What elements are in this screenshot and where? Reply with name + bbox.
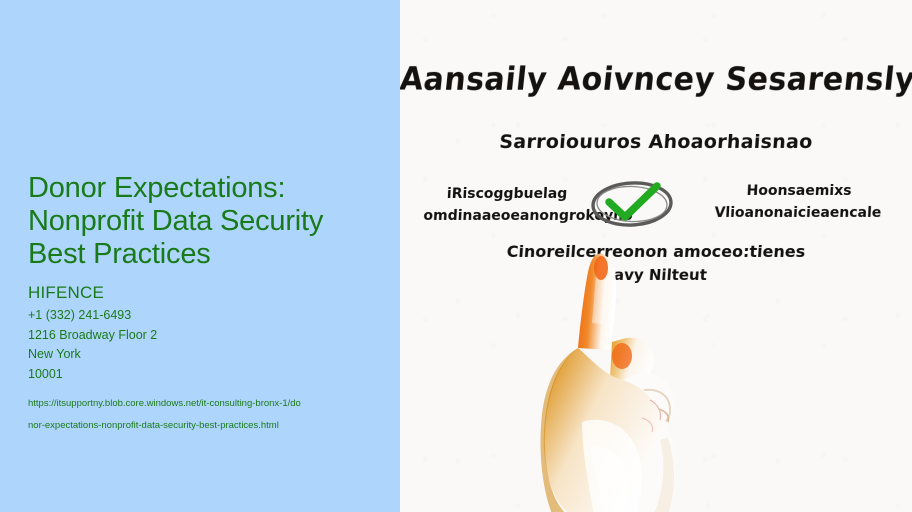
illustration-left-label: iRiscoggbuelag omdinaaeoeanongrokoyno <box>423 183 590 227</box>
checkmark-badge <box>589 178 675 230</box>
contact-address-street: 1216 Broadway Floor 2 <box>28 326 380 346</box>
contact-address-zip: 10001 <box>28 365 380 385</box>
page-title: Donor Expectations: Nonprofit Data Secur… <box>28 172 380 271</box>
promo-graphic: Donor Expectations: Nonprofit Data Secur… <box>0 0 912 512</box>
info-panel: Donor Expectations: Nonprofit Data Secur… <box>0 0 400 512</box>
source-url[interactable]: https://itsupportny.blob.core.windows.ne… <box>28 393 380 437</box>
source-url-line-2[interactable]: nor-expectations-nonprofit-data-security… <box>28 415 380 437</box>
source-url-line-1[interactable]: https://itsupportny.blob.core.windows.ne… <box>28 393 380 415</box>
illustration-panel: Aansaily Aoivncey Sesarensly Sarroiouuro… <box>400 0 912 512</box>
illustration-subheading-text: Sarroiouuros Ahoaorhaisnao <box>400 131 912 153</box>
illustration-heading-text: Aansaily Aoivncey Sesarensly <box>400 61 912 98</box>
brand-name: HIFENCE <box>28 283 380 303</box>
illustration-right-label: Hoonsaemixs Vlioanonaicieaencale <box>710 180 887 224</box>
info-panel-content: Donor Expectations: Nonprofit Data Secur… <box>28 172 380 437</box>
contact-address-city: New York <box>28 345 380 365</box>
pointing-hand-illustration <box>518 252 708 512</box>
contact-phone[interactable]: +1 (332) 241-6493 <box>28 306 380 326</box>
